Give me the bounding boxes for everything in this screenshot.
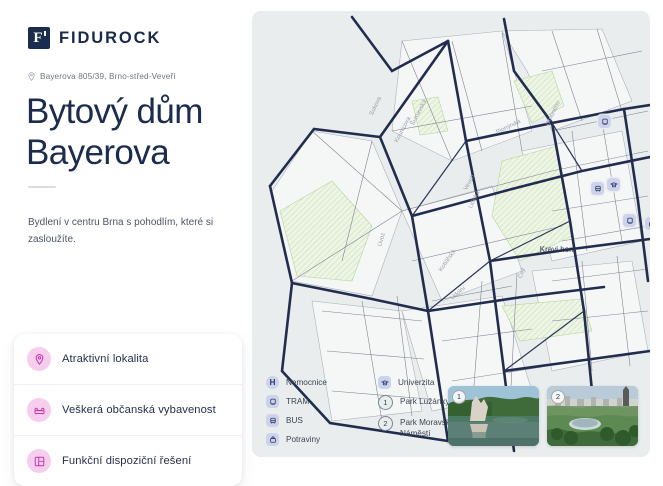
number-marker-1-icon: 1: [378, 395, 393, 410]
number-marker-2-icon: 2: [378, 416, 393, 431]
floorplan-icon: [27, 449, 51, 473]
legend-label: BUS: [286, 414, 303, 426]
legend-glyph: 1: [383, 399, 387, 407]
legend-column-1: H Nemocnice TRAM BUS: [266, 376, 358, 446]
poi-bus[interactable]: [591, 182, 604, 195]
sofa-icon: [27, 398, 51, 422]
tram-icon: [266, 395, 279, 408]
info-panel: F FIDUROCK Bayerova 805/39, Brno-střed-V…: [0, 0, 252, 468]
location-pin-circle-icon: [27, 347, 51, 371]
poi-tram[interactable]: [598, 115, 611, 128]
feature-item-vybavenost[interactable]: Veškerá občanská vybavenost: [14, 385, 242, 436]
poi-groceries[interactable]: [645, 217, 650, 230]
map-legend: H Nemocnice TRAM BUS: [266, 376, 470, 446]
photo-badge-number: 2: [556, 393, 560, 401]
photo-park-moravske[interactable]: 2: [547, 386, 638, 446]
brand-logo[interactable]: F FIDUROCK: [28, 27, 161, 49]
feature-card: Atraktivní lokalita Veškerá občanská vyb…: [14, 334, 242, 486]
legend-label: TRAM: [286, 395, 309, 407]
poi-tram[interactable]: [623, 214, 636, 227]
title-line-1: Bytový dům: [26, 92, 246, 133]
feature-label: Veškerá občanská vybavenost: [62, 404, 216, 416]
feature-item-lokalita[interactable]: Atraktivní lokalita: [14, 334, 242, 385]
photo-badge-number: 1: [457, 393, 461, 401]
photo-strip: 1: [448, 386, 638, 446]
legend-item-tram: TRAM: [266, 395, 358, 408]
photo-park-luzanky[interactable]: 1: [448, 386, 539, 446]
page-title: Bytový dům Bayerova: [26, 92, 246, 173]
legend-item-groceries: Potraviny: [266, 433, 358, 446]
map-canvas[interactable]: Kravi hora Park Lužánky Masarykova unive…: [252, 11, 650, 457]
feature-item-dispozice[interactable]: Funkční dispoziční řešení: [14, 436, 242, 486]
feature-label: Funkční dispoziční řešení: [62, 455, 191, 467]
location-pin-icon: [28, 72, 35, 81]
lede-text: Bydlení v centru Brna s pohodlím, které …: [28, 215, 228, 248]
hospital-icon: H: [266, 376, 279, 389]
address-row: Bayerova 805/39, Brno-střed-Veveří: [28, 72, 176, 81]
legend-label: Nemocnice: [286, 376, 327, 388]
title-line-2: Bayerova: [26, 133, 246, 174]
fidurock-monogram-icon: F: [28, 27, 50, 49]
legend-item-bus: BUS: [266, 414, 358, 427]
address-text: Bayerova 805/39, Brno-střed-Veveří: [40, 72, 176, 81]
groceries-icon: [266, 433, 279, 446]
map-panel: Kravi hora Park Lužánky Masarykova unive…: [252, 0, 663, 468]
brand-name: FIDUROCK: [59, 29, 161, 48]
promo-page: F FIDUROCK Bayerova 805/39, Brno-střed-V…: [0, 0, 663, 468]
poi-university[interactable]: [607, 178, 620, 191]
monogram-letter: F: [33, 31, 44, 46]
monogram-tick: [44, 31, 46, 36]
legend-item-hospital: H Nemocnice: [266, 376, 358, 389]
legend-glyph: H: [270, 379, 276, 387]
bus-icon: [266, 414, 279, 427]
photo-badge: 1: [452, 390, 466, 404]
feature-label: Atraktivní lokalita: [62, 353, 148, 365]
legend-label: Park Lužánky: [400, 395, 450, 407]
legend-glyph: 2: [383, 420, 387, 428]
legend-label: Univerzita: [398, 376, 434, 388]
photo-badge: 2: [551, 390, 565, 404]
university-icon: [378, 376, 391, 389]
title-divider: [28, 186, 56, 188]
legend-label: Potraviny: [286, 433, 320, 445]
